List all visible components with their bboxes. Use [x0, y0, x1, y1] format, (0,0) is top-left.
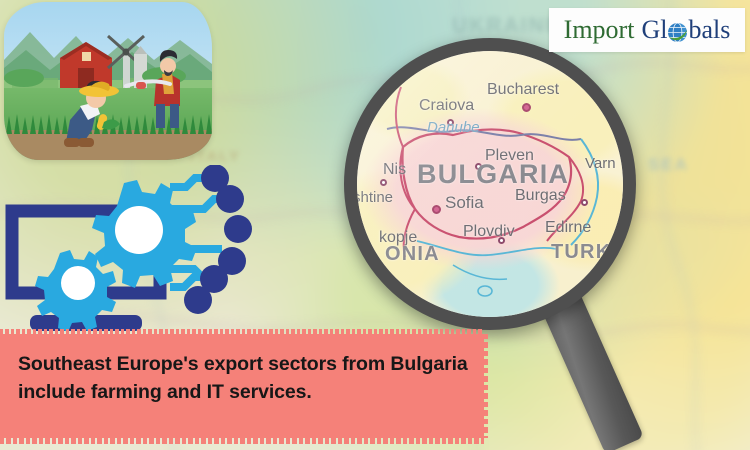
lens-country-turkey: TURK [551, 241, 611, 264]
headline-banner: Southeast Europe's export sectors from B… [0, 334, 484, 438]
lens-city-bucharest: Bucharest [487, 81, 559, 99]
lens-city-edirne: Edirne [545, 219, 591, 237]
lens-city-sofia: Sofia [445, 193, 484, 213]
lens-country-macedonia: ONIA [385, 243, 440, 266]
globe-icon [667, 22, 688, 43]
headline-text: Southeast Europe's export sectors from B… [18, 351, 470, 406]
brand-logo-bals: bals [688, 17, 730, 43]
brand-logo-gl: Gl [641, 17, 667, 43]
city-dot-sofia [432, 205, 441, 214]
city-dot-varna [581, 199, 588, 206]
city-dot-nis [380, 179, 387, 186]
banner-torn-edge [481, 334, 488, 438]
magnifying-glass-icon: Bucharest Craiova Pleven Nis shtine Sofi… [344, 38, 636, 330]
lens-city-plovdiv: Plovdiv [463, 223, 515, 241]
brand-logo-inner: ImportGl bals [564, 17, 731, 43]
magnifier-lens: Bucharest Craiova Pleven Nis shtine Sofi… [357, 51, 623, 317]
brand-logo-import: Import [564, 17, 635, 43]
brand-logo[interactable]: ImportGl bals [549, 8, 745, 52]
promo-banner-image: UKRAINE ITALY SEA [0, 0, 750, 450]
city-dot-bucharest [522, 103, 531, 112]
farming-illustration [4, 2, 212, 160]
lens-river-danube: Danube [427, 119, 480, 136]
lens-city-prishtine: shtine [357, 189, 393, 206]
ghost-label-ukraine: UKRAINE [452, 14, 562, 38]
ghost-label-sea: SEA [648, 155, 689, 175]
lens-city-nis: Nis [383, 161, 406, 179]
it-services-icon [2, 165, 268, 345]
magnifier-rim: Bucharest Craiova Pleven Nis shtine Sofi… [344, 38, 636, 330]
lens-country-bulgaria: BULGARIA [417, 159, 569, 190]
lens-city-craiova: Craiova [419, 97, 474, 115]
lens-city-varna: Varn [585, 155, 616, 172]
